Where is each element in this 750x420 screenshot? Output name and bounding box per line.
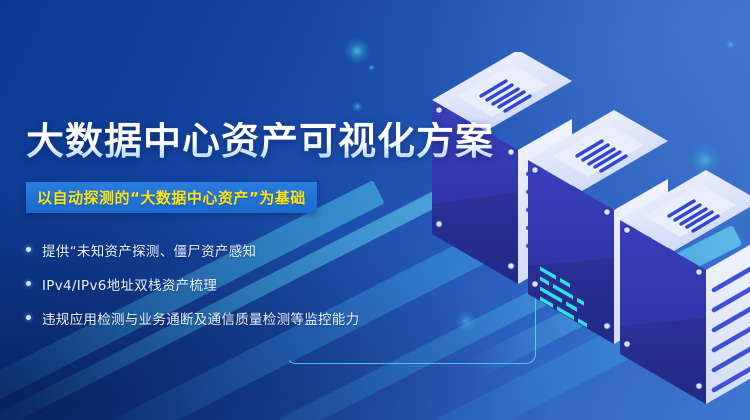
- page-title: 大数据中心资产可视化方案: [26, 122, 494, 160]
- list-item: IPv4/IPv6地址双栈资产梳理: [26, 270, 416, 297]
- subtitle-banner: 以自动探测的“大数据中心资产”为基础: [26, 182, 317, 213]
- server-illustration: [432, 52, 750, 420]
- subtitle-text: 以自动探测的“大数据中心资产”为基础: [37, 187, 306, 208]
- feature-list: 提供“未知资产探测、僵尸资产感知 IPv4/IPv6地址双栈资产梳理 违规应用检…: [26, 236, 416, 338]
- list-item: 违规应用检测与业务通断及通信质量检测等监控能力: [26, 304, 416, 331]
- glow-dot-6: [726, 40, 735, 49]
- bullet-dot-icon: [26, 281, 31, 286]
- bullet-dot-icon: [26, 247, 31, 252]
- list-item-label: 提供“未知资产探测、僵尸资产感知: [42, 240, 256, 260]
- list-item-label: 违规应用检测与业务通断及通信质量检测等监控能力: [42, 308, 359, 328]
- list-item-label: IPv4/IPv6地址双栈资产梳理: [42, 274, 217, 294]
- bullet-dot-icon: [26, 315, 31, 320]
- list-item: 提供“未知资产探测、僵尸资产感知: [26, 236, 416, 263]
- text-content: 大数据中心资产可视化方案 以自动探测的“大数据中心资产”为基础 提供“未知资产探…: [0, 0, 430, 420]
- banner-root: 大数据中心资产可视化方案 以自动探测的“大数据中心资产”为基础 提供“未知资产探…: [0, 0, 750, 420]
